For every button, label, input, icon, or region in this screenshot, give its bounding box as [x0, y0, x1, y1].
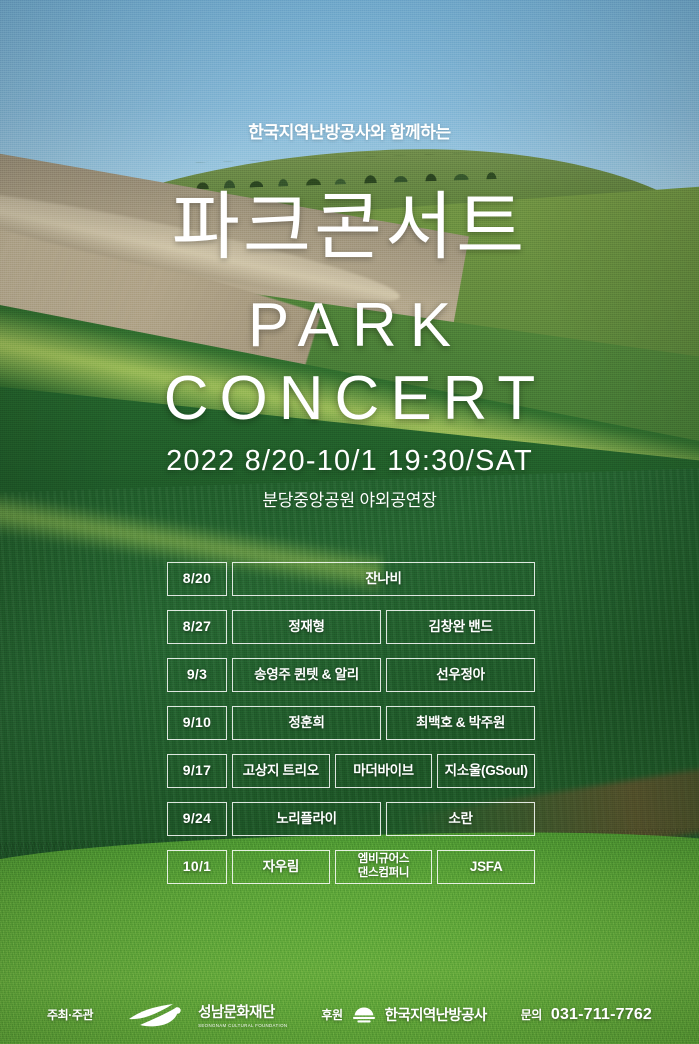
schedule-act-cell: 고상지 트리오 [232, 754, 330, 788]
event-venue: 분당중앙공원 야외공연장 [0, 486, 699, 511]
schedule-date-cell: 9/17 [167, 754, 227, 788]
poster-footer: 주최·주관 성남문화재단 SEONGNAM CULTURAL FOUNDATIO… [0, 1001, 699, 1028]
schedule-act-cell: 송영주 퀸텟 & 알리 [232, 658, 381, 692]
schedule-act-cell: JSFA [437, 850, 535, 884]
park-concert-poster: 한국지역난방공사와 함께하는 파크콘서트 PARK CONCERT 2022 8… [0, 0, 699, 1044]
sponsor-label: 후원 [321, 1006, 342, 1023]
schedule-row: 8/27정재형김창완 밴드 [167, 610, 535, 644]
schedule-act-cell: 김창완 밴드 [386, 610, 535, 644]
schedule-act-cell: 잔나비 [232, 562, 535, 596]
swoosh-leaf-icon [127, 1002, 189, 1028]
schedule-row: 9/3송영주 퀸텟 & 알리선우정아 [167, 658, 535, 692]
schedule-act-cell: 엠비규어스댄스컴퍼니 [335, 850, 433, 884]
sponsor-group: 후원 한국지역난방공사 [321, 1004, 486, 1025]
poster-content: 한국지역난방공사와 함께하는 파크콘서트 PARK CONCERT 2022 8… [0, 0, 699, 1044]
schedule-date-cell: 9/24 [167, 802, 227, 836]
schedule-act-cell: 정재형 [232, 610, 381, 644]
event-date-time: 2022 8/20-10/1 19:30/SAT [0, 445, 699, 478]
host-org: 성남문화재단 SEONGNAM CULTURAL FOUNDATION [198, 1001, 287, 1028]
host-label: 주최·주관 [47, 1006, 93, 1023]
contact-phone: 031-711-7762 [551, 1006, 652, 1024]
schedule-table: 8/20잔나비8/27정재형김창완 밴드9/3송영주 퀸텟 & 알리선우정아9/… [167, 562, 535, 898]
schedule-date-cell: 9/10 [167, 706, 227, 740]
tagline: 한국지역난방공사와 함께하는 [0, 118, 699, 143]
schedule-act-cell: 선우정아 [386, 658, 535, 692]
title-english-concert: CONCERT [0, 368, 699, 430]
sponsor-org-name: 한국지역난방공사 [385, 1004, 487, 1025]
schedule-row: 10/1자우림엠비규어스댄스컴퍼니JSFA [167, 850, 535, 884]
host-group: 주최·주관 성남문화재단 SEONGNAM CULTURAL FOUNDATIO… [47, 1001, 287, 1028]
schedule-act-cell: 정훈희 [232, 706, 381, 740]
contact-group: 문의 031-711-7762 [521, 1006, 652, 1024]
host-org-subtitle: SEONGNAM CULTURAL FOUNDATION [198, 1023, 287, 1028]
title-english-park: PARK [0, 295, 699, 357]
schedule-row: 8/20잔나비 [167, 562, 535, 596]
host-org-name: 성남문화재단 [198, 1005, 274, 1021]
title-korean: 파크콘서트 [0, 190, 699, 264]
contact-label: 문의 [521, 1006, 542, 1023]
schedule-act-cell: 최백호 & 박주원 [386, 706, 535, 740]
schedule-row: 9/17고상지 트리오마더바이브지소울(GSoul) [167, 754, 535, 788]
schedule-act-cell: 지소울(GSoul) [437, 754, 535, 788]
schedule-date-cell: 8/20 [167, 562, 227, 596]
schedule-act-cell: 소란 [386, 802, 535, 836]
schedule-act-cell: 마더바이브 [335, 754, 433, 788]
schedule-row: 9/10정훈희최백호 & 박주원 [167, 706, 535, 740]
schedule-row: 9/24노리플라이소란 [167, 802, 535, 836]
schedule-act-cell: 자우림 [232, 850, 330, 884]
schedule-date-cell: 8/27 [167, 610, 227, 644]
schedule-date-cell: 10/1 [167, 850, 227, 884]
sun-dome-icon [352, 1005, 376, 1025]
schedule-act-cell: 노리플라이 [232, 802, 381, 836]
schedule-date-cell: 9/3 [167, 658, 227, 692]
